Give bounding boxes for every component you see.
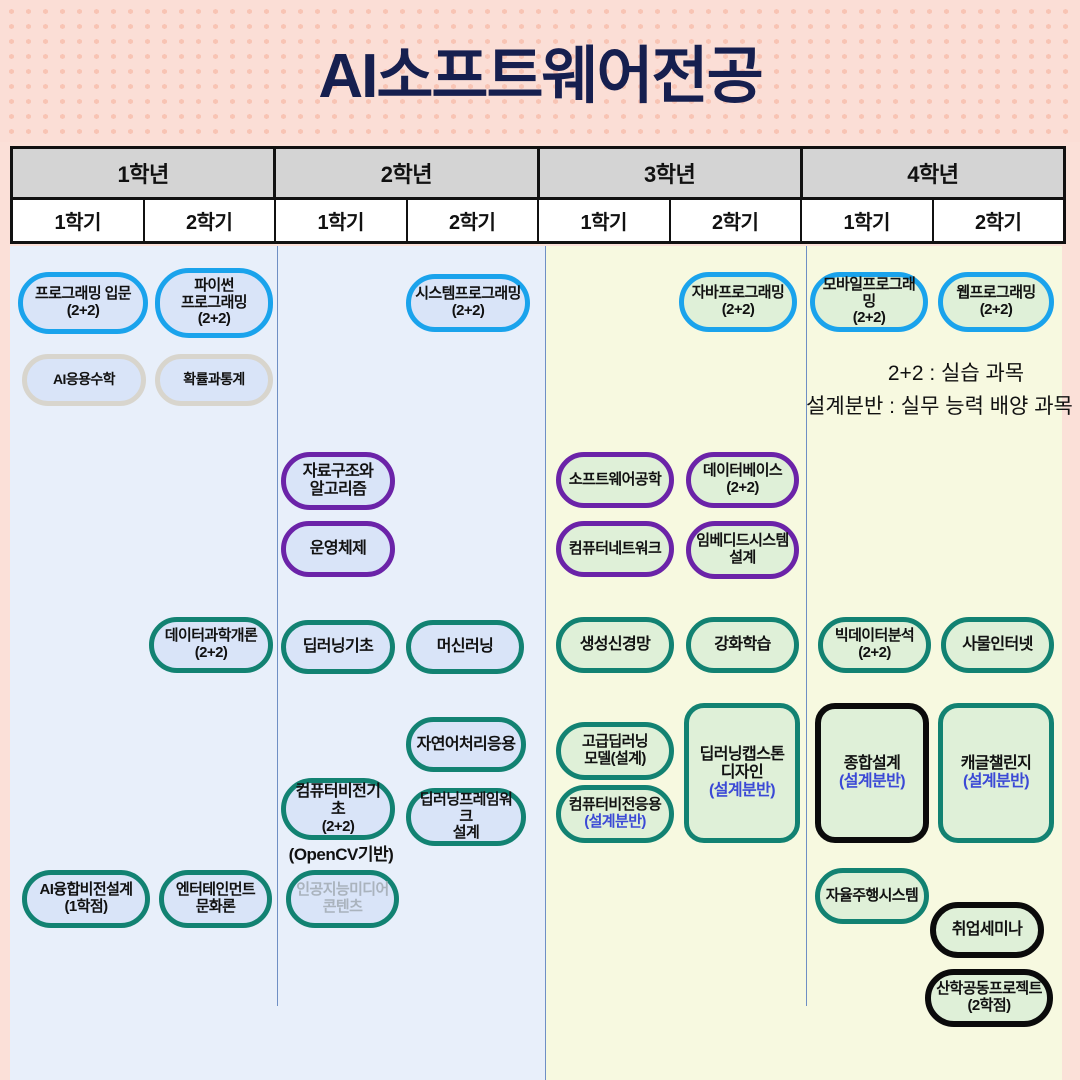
grade-cell-3: 3학년 xyxy=(540,149,803,197)
course-name: 딥러닝기초 xyxy=(303,638,374,656)
course-name: 종합설계 xyxy=(844,755,900,773)
course-name: AI융합비전설계 xyxy=(39,882,132,899)
page-title: AI소프트웨어전공 xyxy=(0,46,1080,108)
course-credit: (2학점) xyxy=(968,998,1011,1015)
course-name: 컴퓨터비전기초 xyxy=(290,783,386,819)
course-credit: (1학점) xyxy=(65,899,108,916)
course-data-science-intro[interactable]: 데이터과학개론 (2+2) xyxy=(149,617,273,673)
course-dl-framework-design[interactable]: 딥러닝프레임워크 설계 xyxy=(406,788,526,846)
grade-header-row: 1학년 2학년 3학년 4학년 xyxy=(13,149,1063,197)
grade-cell-4: 4학년 xyxy=(803,149,1063,197)
course-software-engineering[interactable]: 소프트웨어공학 xyxy=(556,452,674,508)
course-ai-vision-design[interactable]: AI융합비전설계 (1학점) xyxy=(22,870,150,928)
course-deep-learning-basics[interactable]: 딥러닝기초 xyxy=(281,620,395,674)
course-name: 자바프로그래밍 xyxy=(692,285,784,302)
semester-cell-4-2: 2학기 xyxy=(934,200,1064,241)
course-advanced-dl-model[interactable]: 고급딥러닝 모델(설계) xyxy=(556,722,674,780)
course-credit: (2+2) xyxy=(198,311,230,328)
course-probability-stats[interactable]: 확률과통계 xyxy=(155,354,273,406)
course-computer-networks[interactable]: 컴퓨터네트워크 xyxy=(556,521,674,577)
opencv-caption: (OpenCV기반) xyxy=(281,840,401,865)
course-cv-applications[interactable]: 컴퓨터비전응용 (설계분반) xyxy=(556,785,674,843)
divider-year-2-3 xyxy=(545,246,546,1080)
legend-line-1: 2+2 : 실습 과목 xyxy=(806,358,1080,391)
course-name: 시스템프로그래밍 xyxy=(415,286,521,303)
course-name: 산학공동프로젝트 xyxy=(936,981,1042,998)
course-name: 웹프로그래밍 xyxy=(956,285,1035,302)
course-name: 데이터베이스 xyxy=(703,463,782,480)
course-credit: (2+2) xyxy=(322,819,354,836)
course-nlp-applications[interactable]: 자연어처리응용 xyxy=(406,717,526,772)
course-name: 운영체제 xyxy=(310,540,366,558)
course-credit: (2+2) xyxy=(452,303,484,320)
course-name: 인공지능미디어 콘텐츠 xyxy=(296,882,388,916)
course-system-programming[interactable]: 시스템프로그래밍 (2+2) xyxy=(406,274,530,332)
course-credit: (2+2) xyxy=(726,480,758,497)
course-web-programming[interactable]: 웹프로그래밍 (2+2) xyxy=(938,272,1054,332)
semester-header-row: 1학기 2학기 1학기 2학기 1학기 2학기 1학기 2학기 xyxy=(13,197,1063,241)
legend: 2+2 : 실습 과목 설계분반 : 실무 능력 배양 과목 xyxy=(806,358,1080,423)
course-bigdata-analysis[interactable]: 빅데이터분석 (2+2) xyxy=(818,617,931,673)
course-reinforcement-learning[interactable]: 강화학습 xyxy=(686,617,799,673)
course-name: 취업세미나 xyxy=(952,921,1023,939)
legend-line-2: 설계분반 : 실무 능력 배양 과목 xyxy=(806,391,1080,424)
course-name: 머신러닝 xyxy=(437,638,493,656)
course-name: 사물인터넷 xyxy=(962,636,1033,654)
course-name: 파이썬 프로그래밍 xyxy=(181,278,247,312)
course-operating-systems[interactable]: 운영체제 xyxy=(281,521,395,577)
course-name: AI응용수학 xyxy=(53,372,115,388)
course-iot[interactable]: 사물인터넷 xyxy=(941,617,1054,673)
course-name: 엔터테인먼트 문화론 xyxy=(176,882,255,916)
semester-cell-2-1: 1학기 xyxy=(276,200,408,241)
course-dl-capstone[interactable]: 딥러닝캡스톤 디자인 (설계분반) xyxy=(684,703,800,843)
course-name: 임베디드시스템 설계 xyxy=(696,533,788,567)
grade-semester-table: 1학년 2학년 3학년 4학년 1학기 2학기 1학기 2학기 1학기 2학기 … xyxy=(10,146,1066,244)
course-name: 딥러닝캡스톤 디자인 xyxy=(700,746,785,782)
course-entertainment-culture[interactable]: 엔터테인먼트 문화론 xyxy=(159,870,272,928)
course-name: 빅데이터분석 xyxy=(835,628,914,645)
course-name: 고급딥러닝 모델(설계) xyxy=(582,734,648,768)
course-autonomous-driving[interactable]: 자율주행시스템 xyxy=(815,868,929,924)
course-name: 생성신경망 xyxy=(580,636,651,654)
course-name: 딥러닝프레임워크 설계 xyxy=(415,792,517,842)
course-industry-project[interactable]: 산학공동프로젝트 (2학점) xyxy=(925,969,1053,1027)
course-name: 컴퓨터네트워크 xyxy=(569,541,661,558)
course-name: 강화학습 xyxy=(714,636,770,654)
course-cv-basics[interactable]: 컴퓨터비전기초 (2+2) xyxy=(281,778,395,840)
course-ai-media-contents[interactable]: 인공지능미디어 콘텐츠 xyxy=(286,870,399,928)
grade-cell-2: 2학년 xyxy=(276,149,539,197)
course-ai-applied-math[interactable]: AI응용수학 xyxy=(22,354,146,406)
course-python-programming[interactable]: 파이썬 프로그래밍 (2+2) xyxy=(155,268,273,338)
course-name: 자율주행시스템 xyxy=(826,888,918,905)
course-credit: (2+2) xyxy=(722,302,754,319)
semester-cell-1-2: 2학기 xyxy=(145,200,277,241)
course-java-programming[interactable]: 자바프로그래밍 (2+2) xyxy=(679,272,797,332)
course-credit: (2+2) xyxy=(195,645,227,662)
course-name: 데이터과학개론 xyxy=(165,628,257,645)
course-credit: (2+2) xyxy=(853,310,885,327)
course-name: 확률과통계 xyxy=(183,372,244,388)
course-design-tag: (설계분반) xyxy=(584,814,646,831)
course-name: 자료구조와 알고리즘 xyxy=(303,463,374,499)
course-database[interactable]: 데이터베이스 (2+2) xyxy=(686,452,799,508)
course-design-tag: (설계분반) xyxy=(709,782,775,800)
course-data-structures[interactable]: 자료구조와 알고리즘 xyxy=(281,452,395,510)
course-generative-nn[interactable]: 생성신경망 xyxy=(556,617,674,673)
course-credit: (2+2) xyxy=(67,303,99,320)
semester-cell-2-2: 2학기 xyxy=(408,200,540,241)
course-name: 컴퓨터비전응용 xyxy=(569,797,661,814)
course-name: 캐글챌린지 xyxy=(961,755,1032,773)
semester-cell-1-1: 1학기 xyxy=(13,200,145,241)
semester-cell-3-1: 1학기 xyxy=(539,200,671,241)
grade-cell-1: 1학년 xyxy=(13,149,276,197)
course-credit: (2+2) xyxy=(980,302,1012,319)
course-machine-learning[interactable]: 머신러닝 xyxy=(406,620,524,674)
course-name: 프로그래밍 입문 xyxy=(35,286,131,303)
course-programming-intro[interactable]: 프로그래밍 입문 (2+2) xyxy=(18,272,148,334)
course-kaggle-challenge[interactable]: 캐글챌린지 (설계분반) xyxy=(938,703,1054,843)
course-name: 자연어처리응용 xyxy=(417,736,516,754)
course-design-tag: (설계분반) xyxy=(963,773,1029,791)
divider-year-1-2 xyxy=(277,246,278,1006)
course-mobile-programming[interactable]: 모바일프로그래밍 (2+2) xyxy=(810,272,928,332)
semester-cell-3-2: 2학기 xyxy=(671,200,803,241)
curriculum-roadmap: AI소프트웨어전공 1학년 2학년 3학년 4학년 1학기 2학기 1학기 2학… xyxy=(0,0,1080,1080)
semester-cell-4-1: 1학기 xyxy=(802,200,934,241)
course-design-tag: (설계분반) xyxy=(839,773,905,791)
course-credit: (2+2) xyxy=(858,645,890,662)
course-embedded-systems[interactable]: 임베디드시스템 설계 xyxy=(686,521,799,579)
course-comprehensive-design[interactable]: 종합설계 (설계분반) xyxy=(815,703,929,843)
course-career-seminar[interactable]: 취업세미나 xyxy=(930,902,1044,958)
course-name: 소프트웨어공학 xyxy=(569,472,661,489)
course-name: 모바일프로그래밍 xyxy=(819,277,919,311)
